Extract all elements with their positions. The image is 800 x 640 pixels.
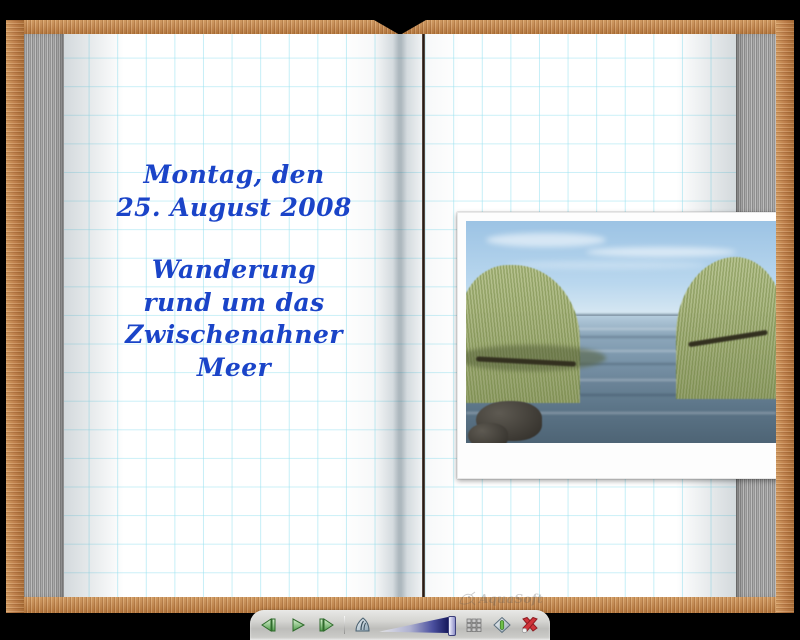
caption-line-3: Wanderung: [84, 254, 384, 287]
volume-track: [379, 617, 448, 633]
close-x-icon: [520, 616, 540, 634]
thumbnails-button[interactable]: [462, 614, 486, 636]
photo-rock: [468, 423, 508, 443]
aquasoft-logo-icon: [458, 591, 476, 607]
volume-handle[interactable]: [448, 616, 456, 636]
close-button[interactable]: [518, 614, 542, 636]
caption-line-4: rund um das: [84, 287, 384, 320]
wood-frame-right: [776, 20, 794, 613]
previous-icon: [260, 617, 280, 633]
play-button[interactable]: [286, 614, 310, 636]
caption-line-6: Meer: [84, 352, 384, 385]
caption-line-2: 25. August 2008: [84, 192, 384, 225]
wood-frame-left: [6, 20, 24, 613]
book-spine-crease: [422, 34, 425, 597]
aquasoft-watermark: AquaSoft: [458, 589, 550, 609]
photo-cloud: [486, 233, 606, 247]
previous-button[interactable]: [258, 614, 282, 636]
slideshow-viewer: Montag, den 25. August 2008 Wanderung ru…: [0, 0, 800, 640]
page-edges-left: [24, 34, 64, 597]
lake-photo: [466, 221, 776, 443]
info-diamond-icon: [492, 616, 512, 634]
sound-button[interactable]: [351, 614, 375, 636]
play-icon: [288, 617, 308, 633]
next-button[interactable]: [314, 614, 338, 636]
caption-line-5: Zwischenahner: [84, 319, 384, 352]
speaker-icon: [353, 616, 373, 634]
grid-icon: [464, 616, 484, 634]
photo-cloud: [586, 247, 736, 257]
photo-frame: [457, 212, 776, 479]
caption-spacer: [84, 224, 384, 254]
watermark-label: AquaSoft: [479, 592, 543, 606]
player-toolbar: [250, 610, 550, 640]
open-book: Montag, den 25. August 2008 Wanderung ru…: [24, 34, 776, 597]
info-button[interactable]: [490, 614, 514, 636]
photo-cloud: [506, 261, 706, 269]
volume-slider[interactable]: [379, 615, 458, 635]
caption-line-1: Montag, den: [84, 159, 384, 192]
page-caption: Montag, den 25. August 2008 Wanderung ru…: [84, 159, 384, 384]
next-icon: [316, 617, 336, 633]
toolbar-separator: [344, 616, 345, 634]
